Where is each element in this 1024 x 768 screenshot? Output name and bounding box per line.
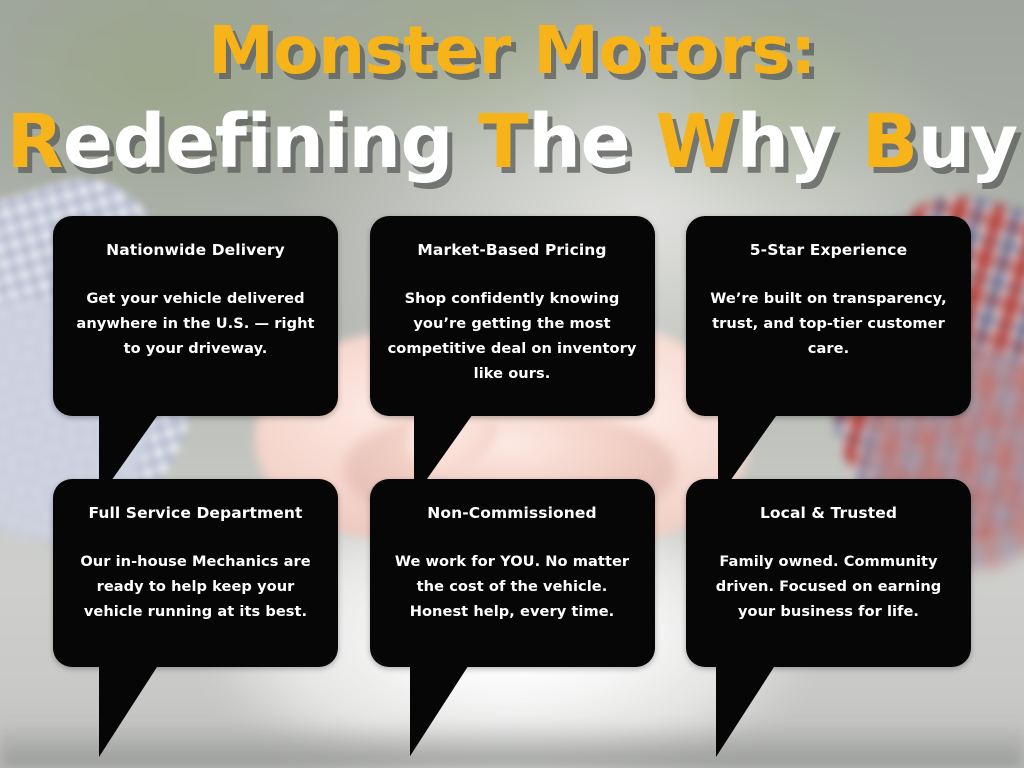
feature-bubble-local-and-trusted[interactable]: Local & Trusted Family owned. Community …	[686, 479, 971, 667]
title-segment: he	[528, 99, 655, 185]
bubble-body-panel: Local & Trusted Family owned. Community …	[686, 479, 971, 667]
title-segment: edefining	[63, 99, 478, 185]
title-segment: Monster Motors:	[208, 12, 816, 89]
feature-bubble-non-commissioned[interactable]: Non-Commissioned We work for YOU. No mat…	[370, 479, 655, 667]
title-line-2: Redefining The Why Buy	[0, 94, 1024, 190]
title-segment: B	[862, 99, 918, 185]
bubble-title: Full Service Department	[69, 503, 322, 523]
bubble-body-panel: Full Service Department Our in-house Mec…	[53, 479, 338, 667]
bubble-title: Local & Trusted	[702, 503, 955, 523]
title-segment: uy	[918, 99, 1018, 185]
promotional-poster: Monster Motors: Redefining The Why Buy N…	[0, 0, 1024, 768]
title-line-1: Monster Motors:	[0, 8, 1024, 94]
feature-bubble-grid: Nationwide Delivery Get your vehicle del…	[53, 216, 971, 667]
feature-bubble-nationwide-delivery[interactable]: Nationwide Delivery Get your vehicle del…	[53, 216, 338, 416]
bubble-text: Shop confidently knowing you’re getting …	[386, 286, 639, 386]
title-segment: R	[6, 99, 62, 185]
bubble-text: Our in-house Mechanics are ready to help…	[69, 549, 322, 624]
bubble-title: Nationwide Delivery	[69, 240, 322, 260]
feature-bubble-five-star-experience[interactable]: 5-Star Experience We’re built on transpa…	[686, 216, 971, 416]
bubble-body-panel: Market-Based Pricing Shop confidently kn…	[370, 216, 655, 416]
title-segment: W	[655, 99, 736, 185]
bubble-text: Get your vehicle delivered anywhere in t…	[69, 286, 322, 361]
bubble-body-panel: 5-Star Experience We’re built on transpa…	[686, 216, 971, 416]
bubble-text: We work for YOU. No matter the cost of t…	[386, 549, 639, 624]
feature-row-bottom: Full Service Department Our in-house Mec…	[53, 479, 971, 667]
title-segment: hy	[737, 99, 862, 185]
bubble-title: Market-Based Pricing	[386, 240, 639, 260]
feature-row-top: Nationwide Delivery Get your vehicle del…	[53, 216, 971, 416]
bubble-title: Non-Commissioned	[386, 503, 639, 523]
title-segment: T	[478, 99, 528, 185]
bubble-body-panel: Nationwide Delivery Get your vehicle del…	[53, 216, 338, 416]
bubble-body-panel: Non-Commissioned We work for YOU. No mat…	[370, 479, 655, 667]
page-title: Monster Motors: Redefining The Why Buy	[0, 8, 1024, 190]
background-bottom-vignette	[0, 722, 1024, 768]
bubble-text: Family owned. Community driven. Focused …	[702, 549, 955, 624]
feature-bubble-full-service-department[interactable]: Full Service Department Our in-house Mec…	[53, 479, 338, 667]
feature-bubble-market-based-pricing[interactable]: Market-Based Pricing Shop confidently kn…	[370, 216, 655, 416]
bubble-text: We’re built on transparency, trust, and …	[702, 286, 955, 361]
bubble-title: 5-Star Experience	[702, 240, 955, 260]
